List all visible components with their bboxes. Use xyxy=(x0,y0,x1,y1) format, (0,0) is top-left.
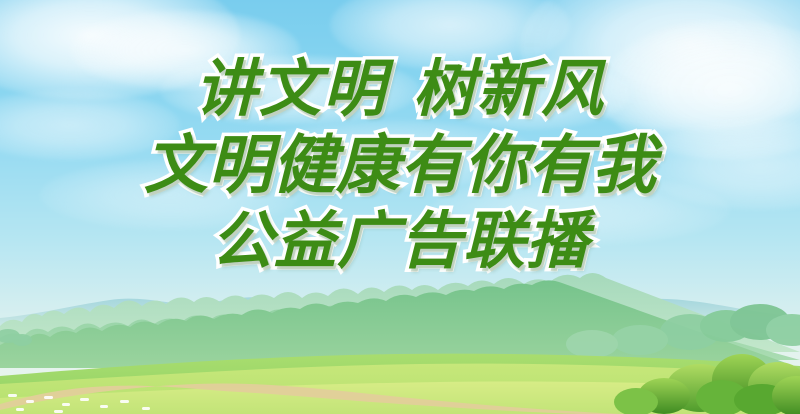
headline-line-3: 公益广告联播 xyxy=(0,210,800,272)
psa-banner: 讲文明树新风 文明健康有你有我 公益广告联播 xyxy=(0,0,800,414)
headline-line-1-part-2: 树新风 xyxy=(413,52,605,125)
headline-block: 讲文明树新风 文明健康有你有我 公益广告联播 xyxy=(0,58,800,272)
headline-line-1-part-1: 讲文明 xyxy=(195,52,387,125)
headline-line-1: 讲文明树新风 xyxy=(0,58,800,120)
headline-line-2: 文明健康有你有我 xyxy=(0,134,800,198)
